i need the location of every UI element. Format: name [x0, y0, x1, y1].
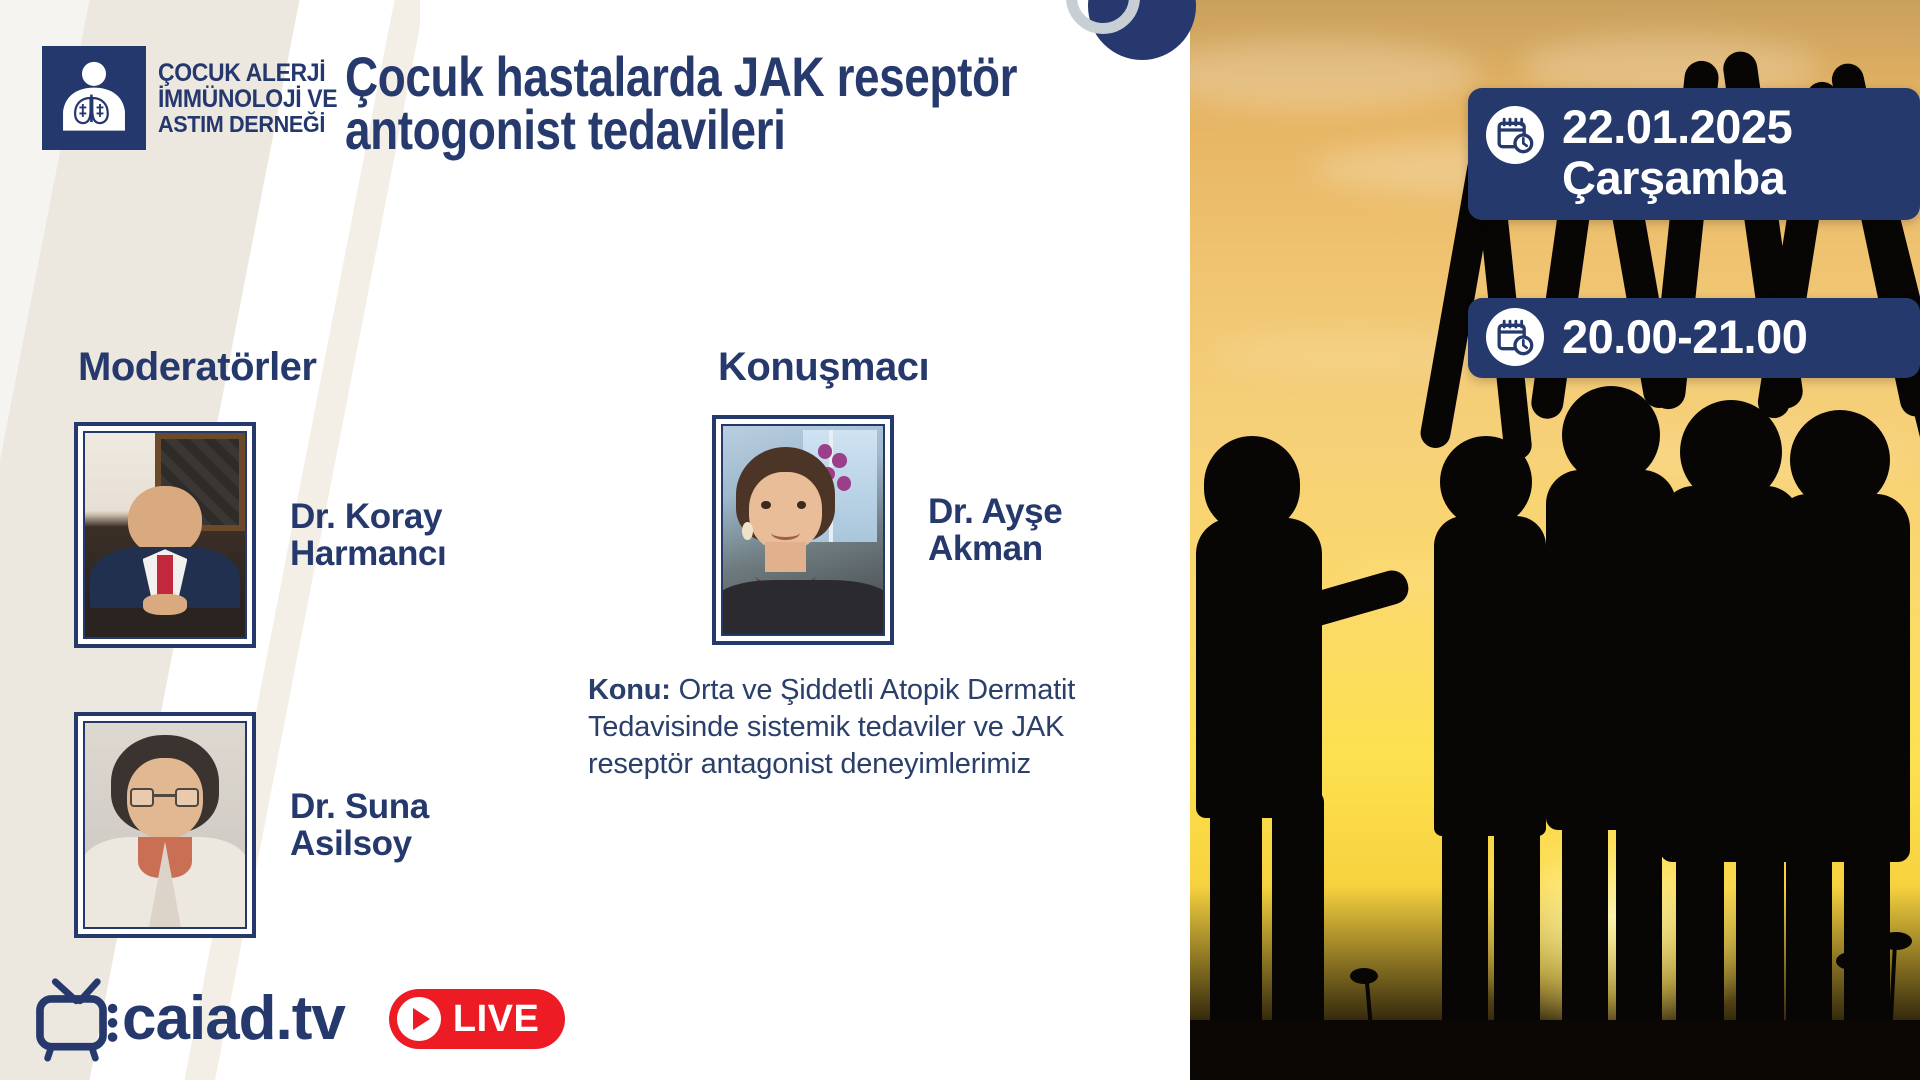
moderator-card-suna: Dr. Suna Asilsoy — [74, 712, 429, 938]
date-badge-text: 22.01.2025 Çarşamba — [1562, 102, 1792, 204]
time-badge-text: 20.00-21.00 — [1562, 312, 1807, 363]
portrait-koray-harmanci — [83, 431, 247, 639]
play-circle-icon — [397, 997, 441, 1041]
date-badge: 22.01.2025 Çarşamba — [1468, 88, 1920, 220]
webinar-poster: ÇOCUK ALERJİ İMMÜNOLOJİ VE ASTIM DERNEĞİ… — [0, 0, 1920, 1080]
name-line-1: Dr. Koray — [290, 498, 446, 535]
org-name-line-1: ÇOCUK ALERJİ — [158, 60, 337, 86]
lungs-person-icon — [42, 46, 146, 150]
name-line-1: Dr. Suna — [290, 788, 429, 825]
live-label: LIVE — [453, 998, 539, 1041]
org-name-line-2: İMMÜNOLOJİ VE — [158, 86, 337, 112]
calendar-clock-icon — [1486, 308, 1544, 366]
portrait-suna-asilsoy — [83, 721, 247, 929]
event-day: Çarşamba — [1562, 153, 1792, 204]
title-line-2: antogonist tedavileri — [345, 103, 1017, 156]
name-line-2: Akman — [928, 530, 1062, 567]
name-line-1: Dr. Ayşe — [928, 493, 1062, 530]
topic-block: Konu: Orta ve Şiddetli Atopik Dermatit T… — [588, 672, 1168, 783]
event-time: 20.00-21.00 — [1562, 312, 1807, 363]
event-date: 22.01.2025 — [1562, 102, 1792, 153]
footer-brand-bar: caiad.tv LIVE — [34, 976, 565, 1062]
poster-header: ÇOCUK ALERJİ İMMÜNOLOJİ VE ASTIM DERNEĞİ… — [0, 0, 1190, 195]
calendar-clock-icon — [1486, 106, 1544, 164]
photo-frame — [712, 415, 894, 645]
moderators-heading: Moderatörler — [78, 345, 317, 390]
portrait-ayse-akman — [721, 424, 885, 636]
moderator-card-koray: Dr. Koray Harmancı — [74, 422, 446, 648]
title-line-1: Çocuk hastalarda JAK reseptör — [345, 50, 1017, 103]
topic-label: Konu: — [588, 674, 671, 706]
organization-name: ÇOCUK ALERJİ İMMÜNOLOJİ VE ASTIM DERNEĞİ — [158, 60, 337, 136]
org-name-line-3: ASTIM DERNEĞİ — [158, 112, 337, 136]
organization-logo: ÇOCUK ALERJİ İMMÜNOLOJİ VE ASTIM DERNEĞİ — [42, 46, 353, 150]
photo-frame — [74, 712, 256, 938]
page-title: Çocuk hastalarda JAK reseptör antogonist… — [345, 50, 1017, 156]
speaker-heading: Konuşmacı — [718, 345, 929, 390]
speaker-card-ayse: Dr. Ayşe Akman — [712, 415, 1062, 645]
name-line-2: Harmancı — [290, 535, 446, 572]
live-badge[interactable]: LIVE — [389, 989, 565, 1049]
time-badge: 20.00-21.00 — [1468, 298, 1920, 378]
name-line-2: Asilsoy — [290, 825, 429, 862]
television-icon — [34, 976, 130, 1062]
moderator-name-suna: Dr. Suna Asilsoy — [290, 788, 429, 862]
moderator-name-koray: Dr. Koray Harmancı — [290, 498, 446, 572]
photo-frame — [74, 422, 256, 648]
speaker-name-ayse: Dr. Ayşe Akman — [928, 493, 1062, 567]
brand-name[interactable]: caiad.tv — [122, 988, 345, 1050]
